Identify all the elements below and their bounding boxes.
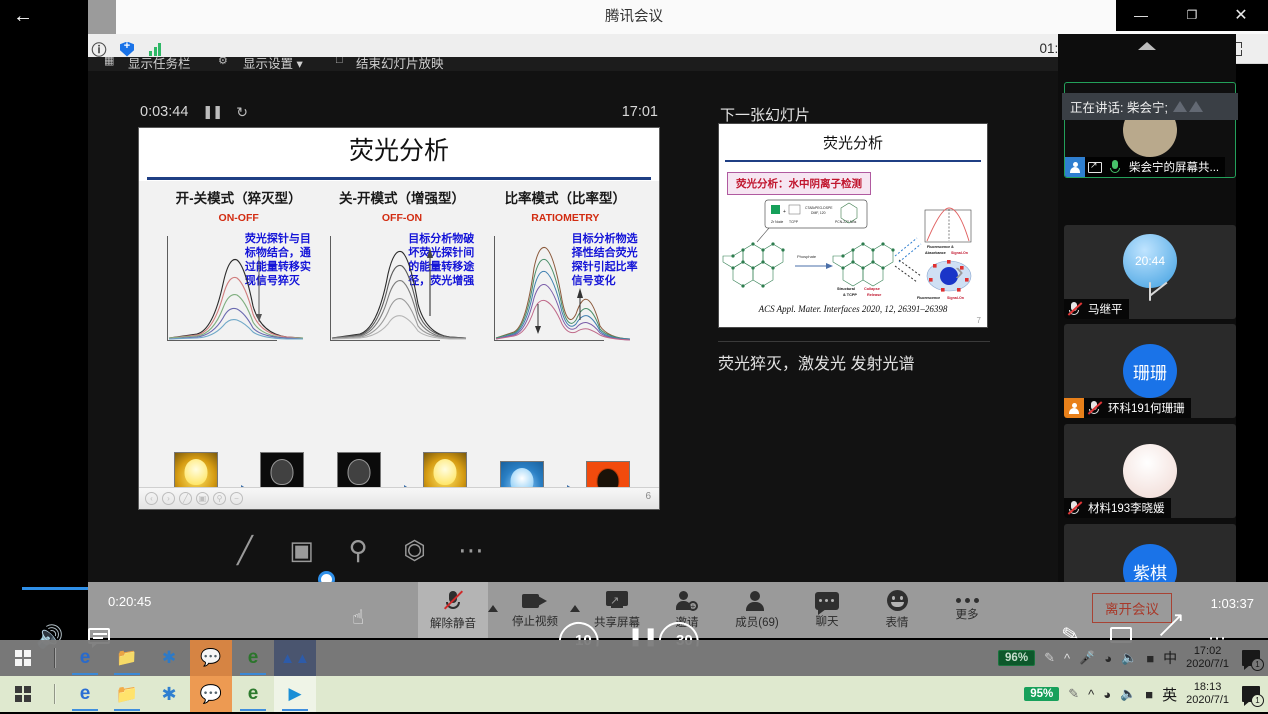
- next-slide-label: 下一张幻灯片: [720, 104, 810, 125]
- notification-count: 1: [1251, 694, 1264, 707]
- next-slide-mini-icon[interactable]: ›: [162, 492, 175, 505]
- wall-clock: 17:01: [88, 101, 658, 123]
- minimize-button[interactable]: —: [1116, 0, 1166, 31]
- pen-mini-icon[interactable]: ╱: [179, 492, 192, 505]
- black-screen-icon[interactable]: ⏣: [398, 533, 432, 567]
- participant-namebar: 柴会宁的屏幕共...: [1065, 157, 1225, 177]
- file-explorer-icon[interactable]: 📁: [106, 676, 148, 712]
- participant-tile-2[interactable]: 珊珊 环科191何珊珊: [1064, 324, 1236, 418]
- prev-slide-chevron[interactable]: ›: [955, 258, 964, 284]
- avatar-initials: 紫棋: [1133, 559, 1167, 583]
- battery-icon[interactable]: ■: [1146, 651, 1154, 666]
- column-subheading: ON-OFF: [157, 212, 320, 224]
- user-icon: [1065, 157, 1085, 177]
- notification-icon[interactable]: 1: [1242, 650, 1260, 666]
- next-slide-diagram: + CTAB•PEG-DSPE DMF, 120 Zr Node TCPP PC…: [719, 198, 987, 302]
- spectrum-plot-enhance: [320, 232, 405, 344]
- members-label: 成员(69): [735, 614, 778, 630]
- svg-text:Signal-On: Signal-On: [951, 251, 968, 255]
- tray-time: 18:13: [1194, 681, 1222, 693]
- column-subheading: OFF-ON: [320, 212, 483, 224]
- file-explorer-icon[interactable]: 📁: [106, 640, 148, 676]
- input-method-indicator[interactable]: 英: [1162, 684, 1177, 705]
- more-icon: [956, 598, 979, 603]
- messenger-icon[interactable]: ✱: [148, 640, 190, 676]
- display-settings-label[interactable]: 显示设置 ▾: [243, 57, 303, 71]
- mic-options-caret-icon[interactable]: [488, 605, 498, 612]
- mic-icon: [1105, 157, 1125, 177]
- more-options-icon[interactable]: ⋯: [454, 533, 488, 567]
- slide-mini-controls[interactable]: ‹ › ╱ ▣ ⚲ −: [145, 492, 243, 505]
- edge-icon[interactable]: e: [64, 640, 106, 676]
- pen-icon[interactable]: ✎: [1068, 686, 1079, 702]
- system-tray-upper: 96% ✎ ^ 🎤 ◕ 🔈 ■ 中 17:02 2020/7/1 1: [998, 640, 1268, 676]
- end-show-icon[interactable]: □: [336, 57, 343, 66]
- clock-upper[interactable]: 17:02 2020/7/1: [1186, 645, 1229, 671]
- next-slide-number: 7: [977, 316, 981, 325]
- mic-icon[interactable]: 🎤: [1079, 650, 1095, 666]
- wifi-icon[interactable]: ◕: [1103, 687, 1111, 702]
- emoji-button[interactable]: 表情: [862, 582, 932, 638]
- participant-tile-3[interactable]: 材料193李晓媛: [1064, 424, 1236, 518]
- invite-icon: +: [676, 591, 698, 611]
- taskbar-divider: [54, 648, 56, 668]
- column-heading: 开-关模式（猝灭型）: [157, 187, 320, 207]
- show-taskbar-label[interactable]: 显示任务栏: [128, 57, 191, 71]
- scroll-up-caret-icon[interactable]: [1138, 42, 1156, 50]
- windows-start-icon[interactable]: [0, 640, 46, 676]
- taskbar-lower: e 📁 ✱ 💬 e ▶ 95% ✎ ^ ◕ 🔈 ■ 英 18:13 2020/7…: [0, 676, 1268, 712]
- slides-mini-icon[interactable]: ▣: [196, 492, 209, 505]
- prev-slide-mini-icon[interactable]: ‹: [145, 492, 158, 505]
- battery-percent: 96%: [998, 650, 1035, 666]
- notification-count: 1: [1251, 658, 1264, 671]
- pen-icon[interactable]: ╱: [228, 533, 262, 567]
- emoji-label: 表情: [886, 614, 909, 630]
- edge-icon[interactable]: e: [64, 676, 106, 712]
- slide-number: 6: [645, 491, 651, 502]
- window-controls: — ❐ ✕: [1116, 0, 1268, 31]
- avatar: 20:44: [1123, 234, 1177, 288]
- meeting-duration: 1:03:37: [1211, 596, 1254, 611]
- avatar: 珊珊: [1123, 344, 1177, 398]
- speaking-banner: 正在讲话: 柴会宁;: [1062, 93, 1238, 120]
- zoom-icon[interactable]: ⚲: [341, 533, 375, 567]
- tencent-meeting-icon[interactable]: ▲▲: [274, 640, 316, 676]
- screen: ← 腾讯会议 — ❐ ✕ ⓘ 01:08:38 切换视图 ▦ 显示任务栏 ⚙ 显…: [0, 0, 1268, 714]
- taskbar-divider: [54, 684, 56, 704]
- mic-mute-icon: [443, 590, 463, 612]
- clock-lower[interactable]: 18:13 2020/7/1: [1186, 681, 1229, 707]
- meeting-elapsed: 0:20:45: [108, 594, 151, 609]
- participant-namebar: 马继平: [1064, 299, 1129, 319]
- next-slide-preview[interactable]: 荧光分析 荧光分析：水中阴离子检测 + CTAB•PEG-DSPE DMF, 1…: [718, 123, 988, 328]
- emoji-icon: [887, 590, 908, 611]
- media-player-icon[interactable]: ▶: [274, 676, 316, 712]
- more-label: 更多: [956, 606, 979, 622]
- unmute-label: 解除静音: [430, 615, 476, 631]
- input-method-indicator[interactable]: 中: [1163, 648, 1177, 668]
- system-tray-lower: 95% ✎ ^ ◕ 🔈 ■ 英 18:13 2020/7/1 1: [1024, 676, 1268, 712]
- svg-text:+: +: [783, 209, 786, 215]
- slide-footer: ‹ › ╱ ▣ ⚲ − 6: [139, 487, 659, 509]
- notification-icon[interactable]: 1: [1242, 686, 1260, 702]
- chat-button[interactable]: 聊天: [792, 582, 862, 638]
- taskbar-upper: e 📁 ✱ 💬 e ▲▲ 96% ✎ ^ 🎤 ◕ 🔈 ■ 中 17:02 202…: [0, 640, 1268, 676]
- spectrum-plot-quench: [157, 232, 242, 344]
- maximize-button[interactable]: ❐: [1167, 0, 1217, 31]
- ie-icon[interactable]: e: [232, 640, 274, 676]
- ie-icon[interactable]: e: [232, 676, 274, 712]
- avatar-initials: 珊珊: [1133, 359, 1167, 384]
- next-slide-badge: 荧光分析：水中阴离子检测: [727, 172, 871, 195]
- tray-time: 17:02: [1194, 645, 1222, 657]
- wifi-icon[interactable]: ◕: [1104, 651, 1112, 666]
- battery-icon[interactable]: ■: [1145, 687, 1153, 702]
- participant-namebar: 环科191何珊珊: [1064, 398, 1191, 418]
- slide-body: 开-关模式（猝灭型） ON-OFF: [139, 181, 659, 487]
- presenter-notes[interactable]: 荧光猝灭，激发光 发射光谱: [718, 354, 1048, 376]
- slide-title: 荧光分析: [139, 128, 659, 176]
- tray-date: 2020/7/1: [1186, 694, 1229, 706]
- chevron-up-icon[interactable]: ^: [1088, 687, 1094, 702]
- mic-mute-icon: [1064, 299, 1084, 319]
- column-subheading: RATIOMETRY: [484, 212, 647, 224]
- tray-date: 2020/7/1: [1186, 658, 1229, 670]
- close-button[interactable]: ✕: [1216, 0, 1266, 31]
- wechat-icon[interactable]: 💬: [190, 676, 232, 712]
- pen-icon[interactable]: ✎: [1044, 650, 1055, 666]
- chat-label: 聊天: [816, 613, 839, 629]
- members-icon: [746, 591, 768, 611]
- participant-name: 柴会宁的屏幕共...: [1125, 159, 1219, 175]
- svg-text:CTAB•PEG-DSPE: CTAB•PEG-DSPE: [805, 206, 833, 210]
- participant-name: 材料193李晓媛: [1084, 500, 1165, 516]
- ppt-slideshow-toolbar: ▦ 显示任务栏 ⚙ 显示设置 ▾ □ 结束幻灯片放映: [88, 57, 1068, 71]
- avatar: [1123, 444, 1177, 498]
- mic-mute-icon: [1084, 398, 1104, 418]
- next-slide-title: 荧光分析: [719, 124, 987, 153]
- more-mini-icon[interactable]: −: [230, 492, 243, 505]
- camera-off-icon: [1149, 283, 1151, 301]
- spectrum-plot-ratio: [484, 232, 569, 344]
- svg-text:& TCPP: & TCPP: [843, 293, 857, 297]
- volume-icon[interactable]: 🔈: [1120, 686, 1136, 702]
- column-heading: 比率模式（比率型）: [484, 187, 647, 207]
- all-slides-icon[interactable]: ▣: [285, 533, 319, 567]
- next-slide-rule: [725, 160, 981, 162]
- gear-icon[interactable]: ⚙: [218, 57, 228, 67]
- notes-divider: [718, 341, 990, 342]
- messenger-icon[interactable]: ✱: [148, 676, 190, 712]
- chevron-up-icon[interactable]: ^: [1064, 651, 1070, 666]
- page-title: 腾讯会议: [0, 0, 1268, 34]
- speaking-label: 正在讲话: 柴会宁;: [1070, 97, 1168, 116]
- mic-mute-icon: [1064, 498, 1084, 518]
- members-button[interactable]: 成员(69): [722, 582, 792, 638]
- svg-text:Collapse: Collapse: [864, 287, 880, 291]
- end-show-label[interactable]: 结束幻灯片放映: [356, 57, 444, 71]
- next-slide-citation: ACS Appl. Mater. Interfaces 2020, 12, 26…: [719, 304, 987, 314]
- app-title-bar: ← 腾讯会议 — ❐ ✕: [0, 0, 1268, 34]
- svg-text:DMF, 120: DMF, 120: [811, 211, 826, 215]
- current-slide[interactable]: 荧光分析 开-关模式（猝灭型） ON-OFF: [138, 127, 660, 510]
- svg-text:Signal-On: Signal-On: [947, 296, 964, 300]
- more-button[interactable]: 更多: [932, 582, 1002, 638]
- presenter-tools: ╱ ▣ ⚲ ⏣ ⋯: [228, 528, 488, 572]
- host-icon: [1064, 398, 1084, 418]
- slide-title-rule: [147, 177, 651, 180]
- zoom-mini-icon[interactable]: ⚲: [213, 492, 226, 505]
- participant-name: 环科191何珊珊: [1104, 400, 1185, 416]
- chat-icon: [815, 592, 839, 610]
- participant-name: 马继平: [1084, 301, 1123, 317]
- battery-percent: 95%: [1024, 687, 1059, 701]
- volume-icon[interactable]: 🔈: [1121, 650, 1137, 666]
- stop-video-label: 停止视频: [512, 613, 558, 629]
- camera-options-caret-icon[interactable]: [570, 605, 580, 612]
- audio-wave-icon: [1173, 101, 1203, 112]
- share-screen-icon: ↗: [604, 591, 630, 611]
- column-heading: 关-开模式（增强型）: [320, 187, 483, 207]
- wechat-icon[interactable]: 💬: [190, 640, 232, 676]
- camera-icon: [522, 592, 548, 610]
- svg-text:Fluorescence &: Fluorescence &: [927, 245, 954, 249]
- taskbar-icon[interactable]: ▦: [104, 57, 114, 67]
- participant-tile-4[interactable]: 紫棋 水191王紫棋: [1064, 524, 1236, 582]
- svg-text:TCPP: TCPP: [789, 220, 799, 224]
- presenter-view: 0:03:44 ❚❚ ↻ 17:01 荧光分析 开-关模式（猝灭型） ON-OF…: [88, 71, 1068, 582]
- svg-text:Structural: Structural: [837, 287, 855, 291]
- share-screen-icon: [1085, 157, 1105, 177]
- svg-text:Release: Release: [867, 293, 881, 297]
- participant-namebar: 材料193李晓媛: [1064, 498, 1171, 518]
- avatar: 紫棋: [1123, 544, 1177, 582]
- hand-cursor: ☝: [352, 605, 364, 630]
- svg-text:Phosphate: Phosphate: [797, 254, 817, 259]
- avatar-initials: 20:44: [1135, 254, 1165, 268]
- svg-text:Absorbance: Absorbance: [925, 251, 946, 255]
- svg-text:Zr Node: Zr Node: [771, 220, 783, 224]
- svg-text:Fluorescence: Fluorescence: [917, 296, 940, 300]
- windows-start-icon[interactable]: [0, 676, 46, 712]
- stop-video-button[interactable]: 停止视频: [500, 582, 570, 638]
- unmute-button[interactable]: 解除静音: [418, 582, 488, 638]
- participant-tile-1[interactable]: 20:44 马继平: [1064, 225, 1236, 319]
- meeting-controls: 解除静音 停止视频 ↗ 共享屏幕: [418, 582, 1002, 638]
